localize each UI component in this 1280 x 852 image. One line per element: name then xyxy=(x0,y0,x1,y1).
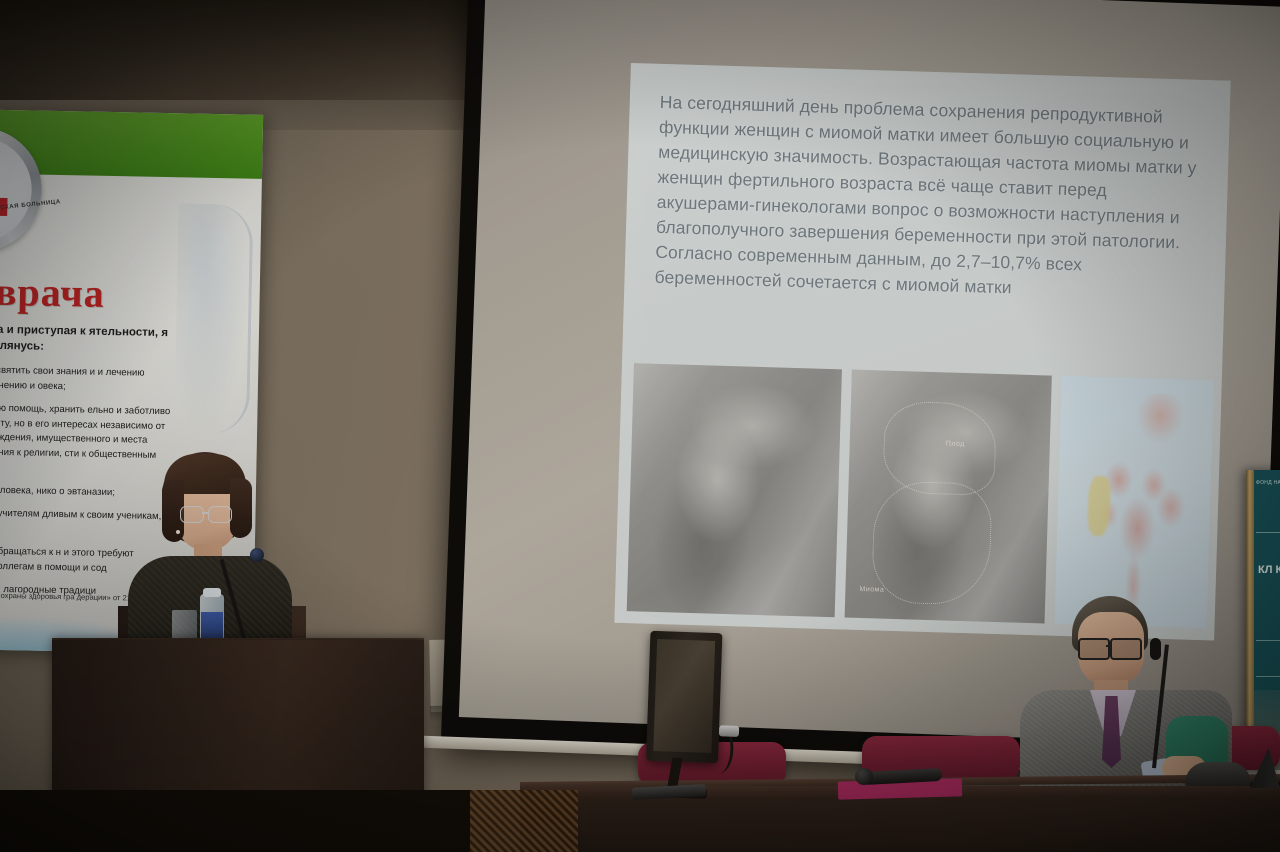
rollup-divider xyxy=(1256,640,1280,641)
panelist-necktie xyxy=(1102,696,1121,768)
uterus-fibroids-illustration xyxy=(1055,376,1214,628)
rollup-banner-small-text: ФОНД НА ЧЕ xyxy=(1256,480,1280,487)
rollup-divider xyxy=(1256,676,1280,677)
speaker-eyeglasses-left-lens xyxy=(180,506,204,523)
computer-monitor-rear xyxy=(646,631,723,775)
desktop-microphone-base xyxy=(1185,762,1251,786)
monitor-connector xyxy=(719,725,739,737)
panelist-eyeglasses-bridge xyxy=(1106,645,1112,647)
scan-label-fibroid: Миома xyxy=(859,586,884,594)
scan-outline-lower xyxy=(871,480,993,605)
handheld-microphone-head xyxy=(855,768,873,785)
projected-slide: На сегодняшний день проблема сохранения … xyxy=(614,63,1230,641)
conference-hall-photo: ОБЛАСТНАЯ КЛИНИЧЕСКАЯ БОЛЬНИЦА тва врача… xyxy=(0,0,1280,852)
speaker-earring xyxy=(176,530,180,534)
panelist-eyeglasses-right-lens xyxy=(1110,638,1142,660)
water-bottle-cap xyxy=(203,588,221,597)
speaker-eyeglasses-right-lens xyxy=(208,506,232,523)
rollup-divider xyxy=(1256,532,1280,533)
foreground-shadow xyxy=(0,790,470,852)
speaker-eyeglasses-bridge xyxy=(202,512,208,514)
ultrasound-scan-plain xyxy=(627,363,842,617)
desktop-microphone-capsule xyxy=(1150,638,1161,660)
scan-label-fetus: Плод xyxy=(946,440,965,448)
podium-microphone-capsule xyxy=(250,548,264,562)
slide-body-text: На сегодняшний день проблема сохранения … xyxy=(654,90,1205,306)
ultrasound-scan-annotated: Плод Миома xyxy=(845,370,1052,624)
rollup-banner-big-text: КЛ КЛ xyxy=(1258,562,1280,578)
slide-figure-row: Плод Миома xyxy=(627,363,1214,630)
panelist-eyeglasses-left-lens xyxy=(1078,638,1110,660)
water-bottle-label xyxy=(201,612,223,640)
speaker-hair-side-right xyxy=(230,478,252,538)
